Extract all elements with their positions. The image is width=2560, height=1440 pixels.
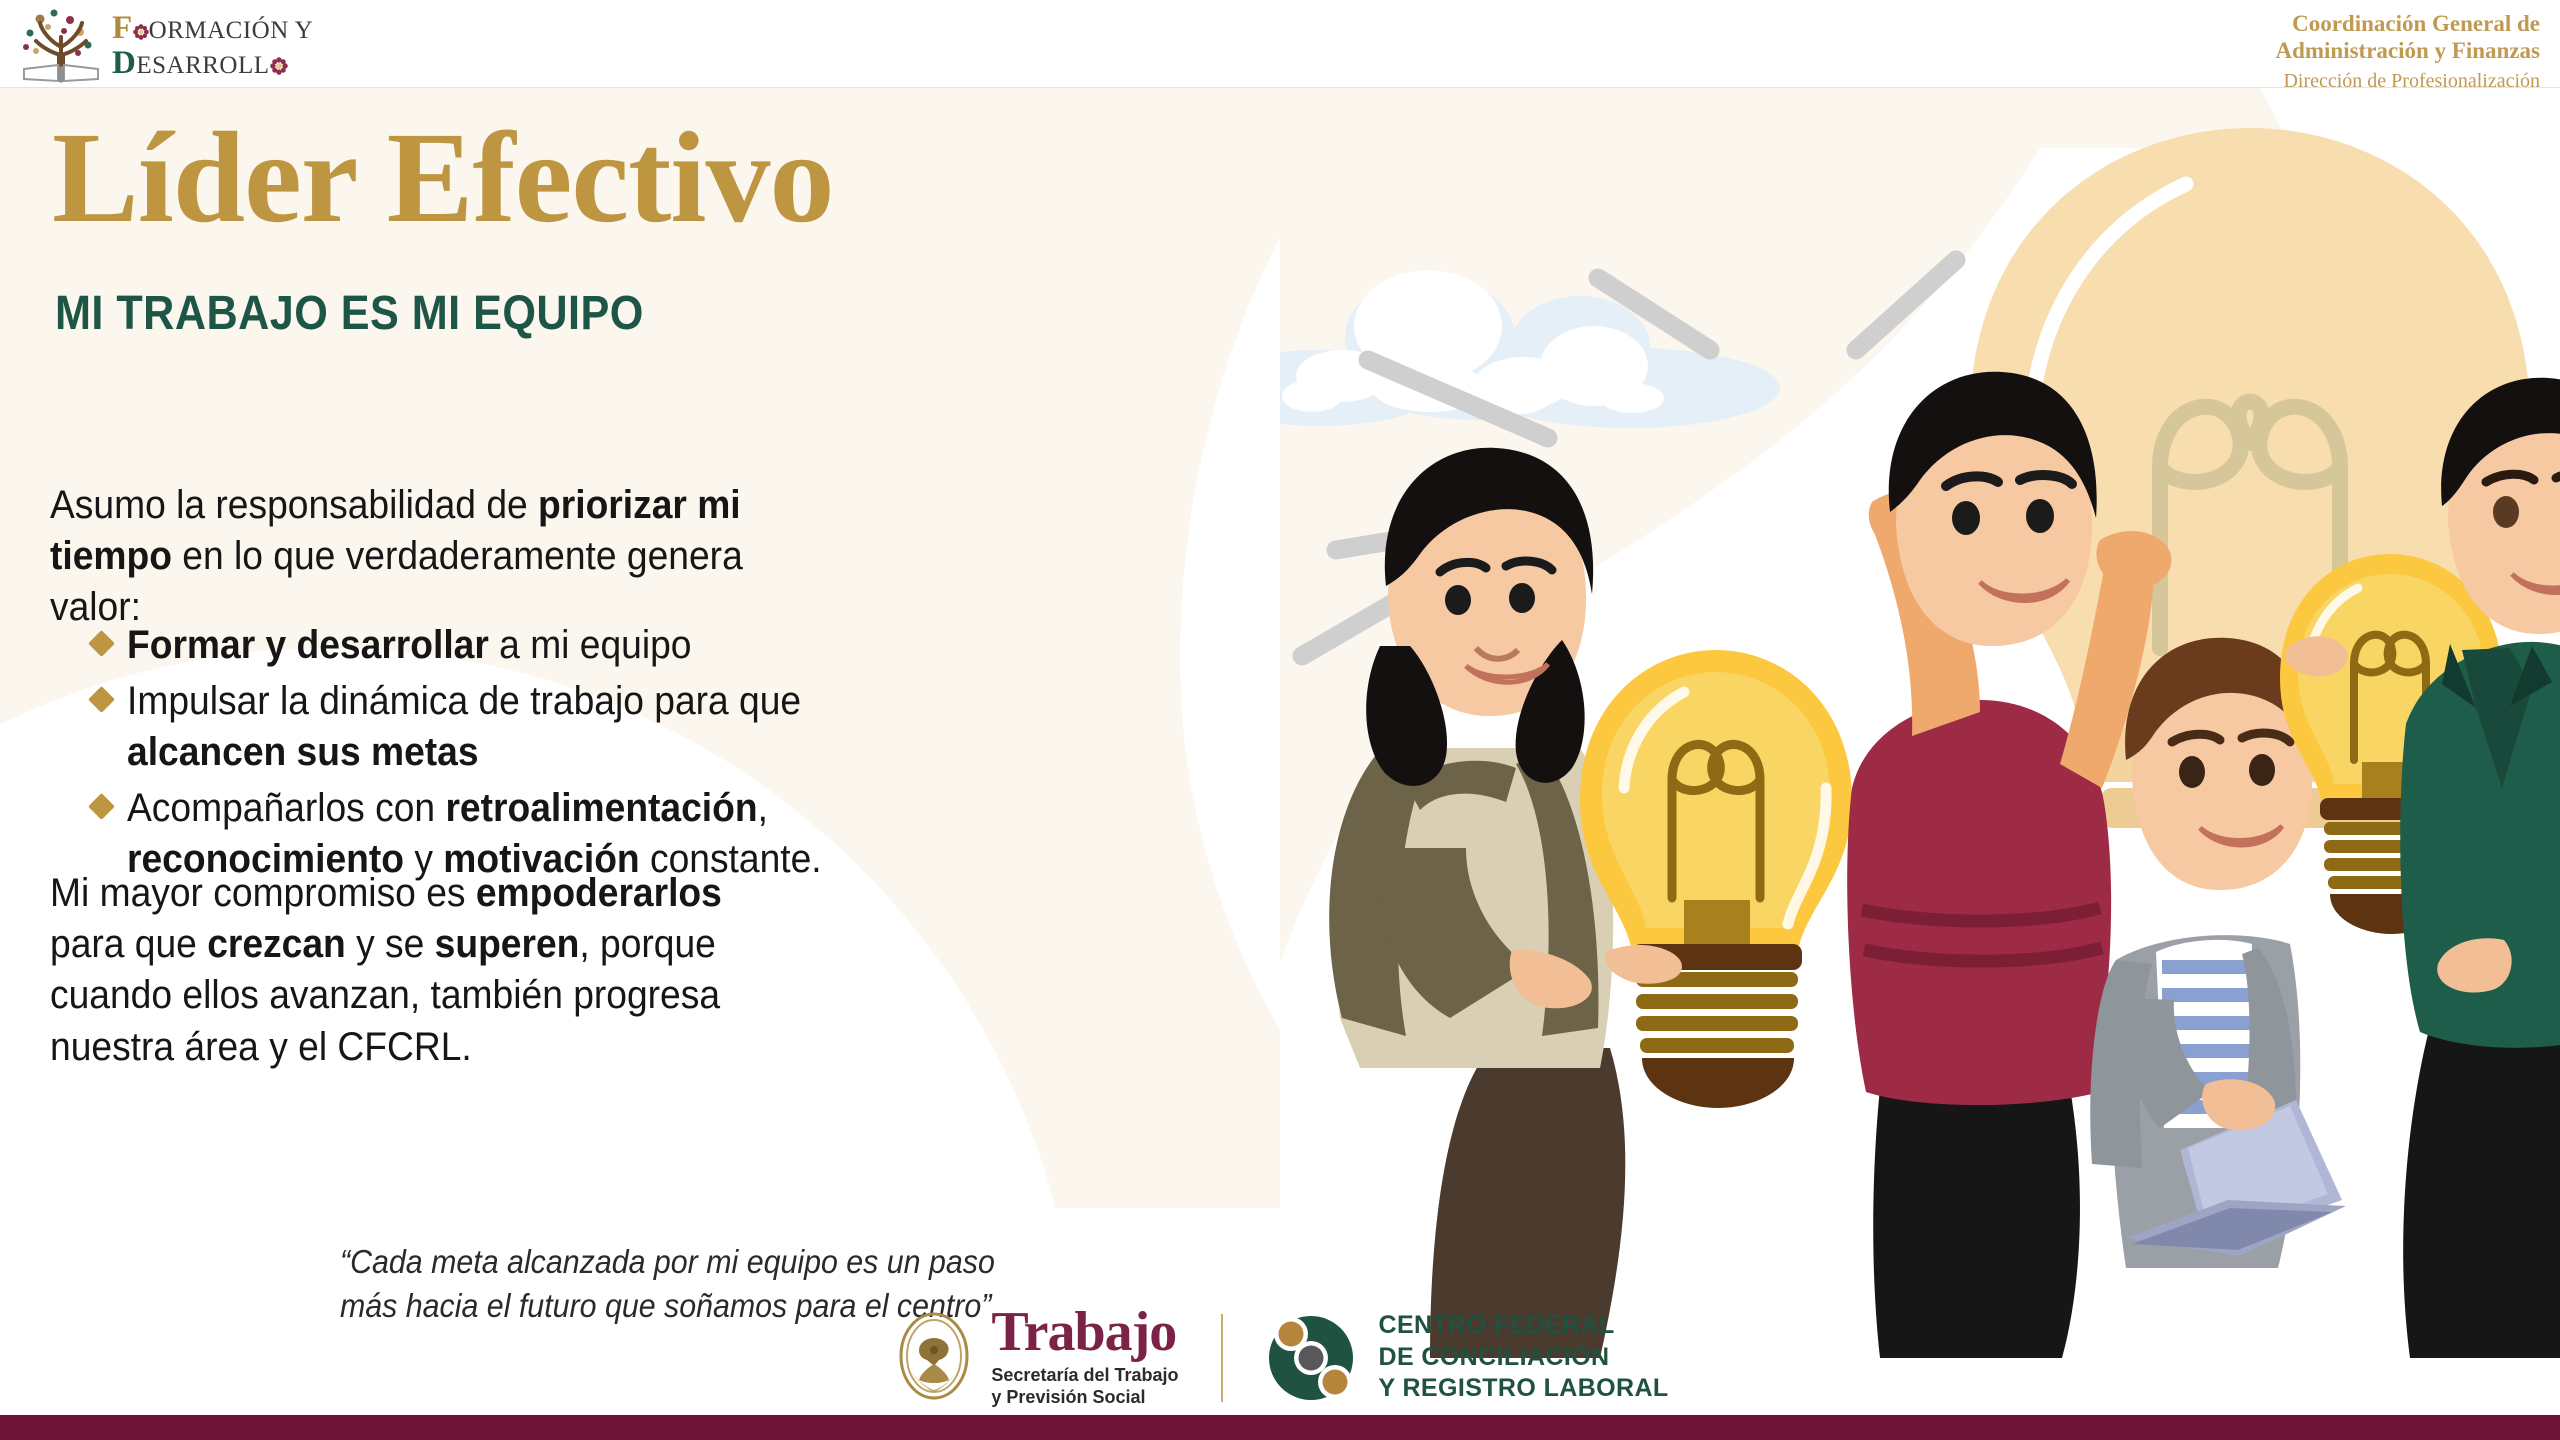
department-line-3: Dirección de Profesionalización — [2275, 70, 2540, 94]
stps-subtitle-line-1: Secretaría del Trabajo — [991, 1365, 1178, 1387]
brand-wordmark: F ORMACIÓN Y DESARROLL — [112, 12, 313, 80]
stps-subtitle-line-2: y Previsión Social — [991, 1387, 1178, 1409]
quote-line-1: “Cada meta alcanzada por mi equipo es un… — [340, 1240, 995, 1284]
cfcrl-circle-logo-icon — [1265, 1312, 1357, 1404]
list-item: Formar y desarrollar a mi equipo — [92, 620, 972, 670]
brand-line-2-rest: ESARROLL — [136, 52, 269, 79]
closing-f: superen — [435, 922, 580, 966]
cfcrl-line-3: Y REGISTRO LABORAL — [1379, 1373, 1669, 1405]
bottom-accent-bar — [0, 1415, 2560, 1440]
footer-logos: Trabajo Secretaría del Trabajo y Previsi… — [0, 1300, 2560, 1415]
intro-text-a: Asumo la responsabilidad de — [50, 483, 538, 527]
bullet3-sep-1: , — [758, 786, 768, 830]
intro-paragraph: Asumo la responsabilidad de priorizar mi… — [50, 480, 813, 634]
closing-paragraph: Mi mayor compromiso es empoderarlos para… — [50, 868, 794, 1073]
stps-wordmark: Trabajo Secretaría del Trabajo y Previsi… — [991, 1306, 1178, 1409]
page-title: Líder Efectivo — [52, 113, 834, 243]
bullet3-lead: Acompañarlos con — [127, 786, 445, 830]
cfcrl-logo: CENTRO FEDERAL DE CONCILIACIÓN Y REGISTR… — [1265, 1310, 1669, 1405]
flower-icon-o2 — [270, 55, 288, 80]
list-item: Impulsar la dinámica de trabajo para que… — [92, 676, 972, 777]
brand-line-1: F ORMACIÓN Y — [112, 12, 313, 45]
diamond-bullet-icon — [88, 686, 115, 713]
brand-logo-formacion-desarrollo: F ORMACIÓN Y DESARROLL — [18, 6, 348, 86]
bullet1-rest: a mi equipo — [489, 623, 692, 667]
bullet3-strong-3: motivación — [443, 837, 639, 881]
bullet3-strong-1: retroalimentación — [445, 786, 757, 830]
flower-icon-o1 — [133, 20, 149, 45]
cfcrl-line-2: DE CONCILIACIÓN — [1379, 1342, 1669, 1374]
diamond-bullet-icon — [88, 630, 115, 657]
closing-e: y se — [346, 922, 435, 966]
stps-title: Trabajo — [991, 1306, 1178, 1359]
stps-subtitle: Secretaría del Trabajo y Previsión Socia… — [991, 1365, 1178, 1409]
footer-divider — [1221, 1314, 1223, 1402]
bullet1-strong: Formar y desarrollar — [127, 623, 489, 667]
poster-canvas: Líder Efectivo MI TRABAJO ES MI EQUIPO A… — [0, 0, 2560, 1440]
closing-d: crezcan — [207, 922, 346, 966]
diamond-bullet-icon — [88, 793, 115, 820]
closing-c: para que — [50, 922, 207, 966]
list-item-text: Impulsar la dinámica de trabajo para que… — [127, 676, 913, 777]
list-item-text: Acompañarlos con retroalimentación, reco… — [127, 783, 913, 884]
cfcrl-line-1: CENTRO FEDERAL — [1379, 1310, 1669, 1342]
mexican-coat-of-arms-icon — [891, 1310, 977, 1406]
illustration-people-lightbulbs — [1280, 88, 2560, 1358]
cfcrl-wordmark: CENTRO FEDERAL DE CONCILIACIÓN Y REGISTR… — [1379, 1310, 1669, 1405]
responsibility-bullet-list: Formar y desarrollar a mi equipo Impulsa… — [92, 620, 972, 890]
department-line-2: Administración y Finanzas — [2275, 37, 2540, 64]
stps-logo: Trabajo Secretaría del Trabajo y Previsi… — [891, 1306, 1178, 1409]
bullet3-sep-2: y — [404, 837, 443, 881]
brand-line-1-rest: ORMACIÓN Y — [149, 17, 314, 44]
header-bar — [0, 0, 2560, 88]
list-item: Acompañarlos con retroalimentación, reco… — [92, 783, 972, 884]
tree-book-logo-icon — [18, 7, 104, 85]
content-column: Líder Efectivo MI TRABAJO ES MI EQUIPO A… — [0, 88, 1360, 1440]
brand-cap-d: D — [112, 45, 136, 81]
page-subtitle: MI TRABAJO ES MI EQUIPO — [55, 286, 644, 341]
department-header: Coordinación General de Administración y… — [2275, 10, 2540, 94]
department-line-1: Coordinación General de — [2275, 10, 2540, 37]
list-item-text: Formar y desarrollar a mi equipo — [127, 620, 691, 670]
bullet2-strong: alcancen sus metas — [127, 730, 479, 774]
bullet3-tail: constante. — [640, 837, 822, 881]
header-divider — [0, 87, 2560, 88]
bullet3-strong-2: reconocimiento — [127, 837, 404, 881]
poster-background: Líder Efectivo MI TRABAJO ES MI EQUIPO A… — [0, 88, 2560, 1440]
brand-cap-f: F — [112, 10, 133, 46]
bullet2-lead: Impulsar la dinámica de trabajo para que — [127, 679, 801, 723]
brand-line-2: DESARROLL — [112, 47, 313, 80]
